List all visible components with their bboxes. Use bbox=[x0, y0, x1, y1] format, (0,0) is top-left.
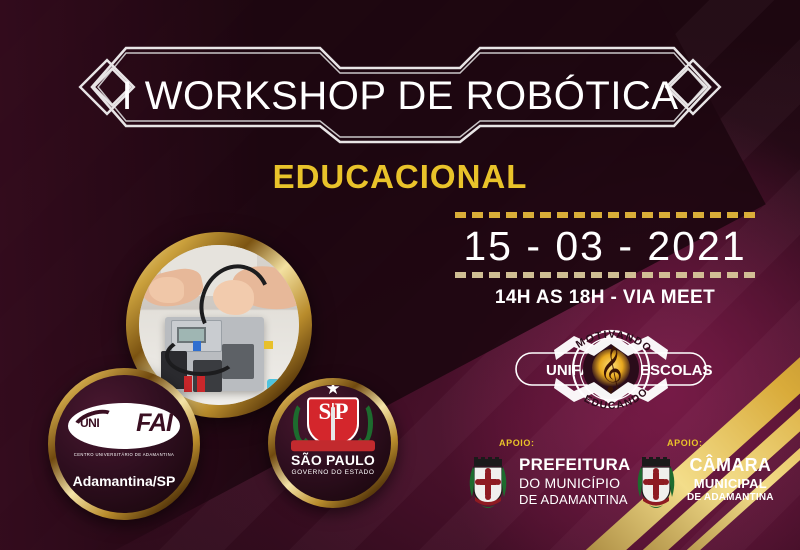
event-date-block: 15 - 03 - 2021 14H AS 18H - VIA MEET bbox=[455, 212, 755, 309]
adamantina-coat-of-arms-icon-2 bbox=[633, 455, 679, 511]
sponsor-line-2: DO MUNICÍPIO bbox=[519, 475, 631, 492]
page-title: I WORKSHOP DE ROBÓTICA bbox=[0, 76, 800, 116]
apoio-label-camara: APOIO: bbox=[667, 438, 703, 448]
sponsor-camara-text: CÂMARA MUNICIPAL DE ADAMANTINA bbox=[687, 455, 774, 503]
emblem-right-label: ESCOLAS bbox=[640, 362, 713, 379]
sponsor-camara: APOIO: bbox=[633, 455, 774, 511]
dashed-rule-top bbox=[455, 212, 755, 218]
sponsor-prefeitura: APOIO: bbox=[465, 455, 631, 511]
unifai-logo-subtext: CENTRO UNIVERSITÁRIO DE ADAMANTINA bbox=[65, 452, 183, 457]
dashed-rule-bottom bbox=[455, 272, 755, 278]
sao-paulo-shield-icon: S|P bbox=[307, 397, 359, 445]
title-frame-block: I WORKSHOP DE ROBÓTICA bbox=[0, 30, 800, 145]
unifai-logo: UNI FAI CENTRO UNIVERSITÁRIO DE ADAMANTI… bbox=[65, 403, 183, 457]
adamantina-coat-of-arms-icon bbox=[465, 455, 511, 511]
sponsor-line-3: DE ADAMANTINA bbox=[687, 492, 774, 504]
unifai-logo-uni: UNI bbox=[80, 416, 99, 430]
ribbon-icon bbox=[291, 440, 375, 451]
poster-canvas: I WORKSHOP DE ROBÓTICA EDUCACIONAL 15 - … bbox=[0, 0, 800, 550]
sao-paulo-logo: ★ S|P SÃO PAULO GOVERNO DO ESTADO bbox=[291, 385, 375, 476]
event-date: 15 - 03 - 2021 bbox=[455, 218, 755, 272]
unifai-escolas-emblem: UNIFAI ESCOLAS 𝄞 MOTIVANDO bbox=[498, 316, 724, 422]
unifai-caption: Adamantina/SP bbox=[55, 473, 193, 489]
sao-paulo-name: SÃO PAULO bbox=[291, 452, 375, 468]
event-time: 14H AS 18H - VIA MEET bbox=[455, 278, 755, 309]
apoio-label-prefeitura: APOIO: bbox=[499, 438, 535, 448]
sponsor-prefeitura-text: PREFEITURA DO MUNICÍPIO DE ADAMANTINA bbox=[519, 455, 631, 507]
sao-paulo-subtitle: GOVERNO DO ESTADO bbox=[291, 469, 375, 476]
sponsor-line-1: PREFEITURA bbox=[519, 455, 631, 475]
sponsor-line-3: DE ADAMANTINA bbox=[519, 492, 631, 507]
sponsor-line-1: CÂMARA bbox=[687, 455, 774, 476]
unifai-logo-fai: FAI bbox=[136, 409, 172, 438]
treble-clef-icon: 𝄞 bbox=[599, 346, 623, 394]
sponsor-line-2: MUNICIPAL bbox=[687, 476, 774, 491]
star-icon: ★ bbox=[291, 385, 375, 396]
sword-icon bbox=[331, 407, 335, 443]
page-subtitle: EDUCACIONAL bbox=[0, 158, 800, 196]
unifai-medallion: UNI FAI CENTRO UNIVERSITÁRIO DE ADAMANTI… bbox=[48, 368, 200, 520]
sao-paulo-medallion: ★ S|P SÃO PAULO GOVERNO DO ESTADO bbox=[268, 378, 398, 508]
